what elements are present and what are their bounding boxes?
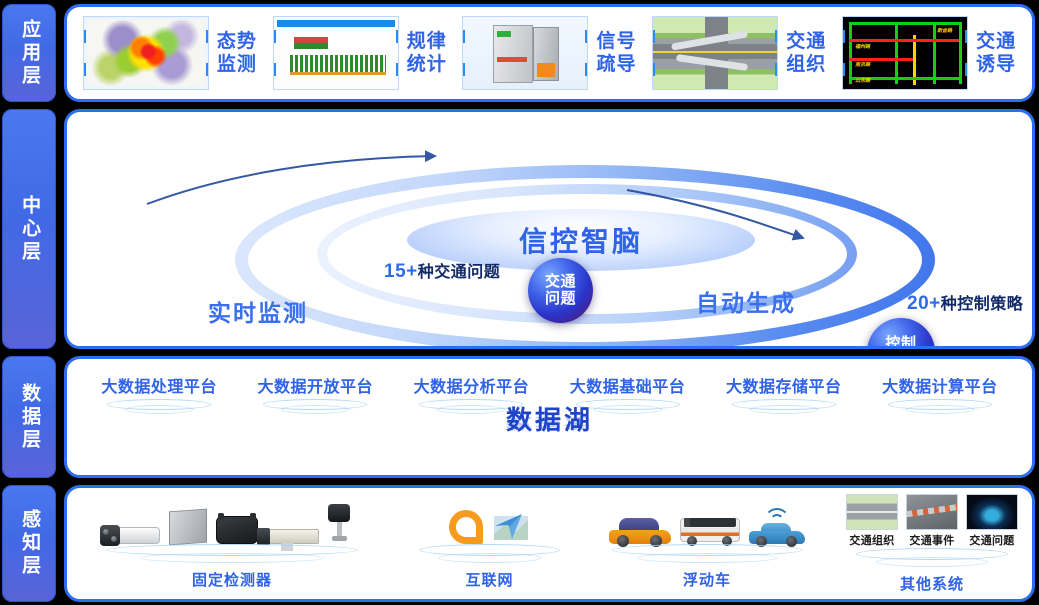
intersection-thumbnail-icon — [652, 16, 778, 90]
application-item-traffic-guidance[interactable]: 福州路 南京路 山东路 新金路 交通 诱导 — [834, 16, 1024, 90]
sensing-group-label: 互联网 — [465, 569, 513, 590]
layer-tab-application-label: 应用层 — [17, 19, 41, 88]
sensing-groups-row: 固定检测器 互联网 — [67, 488, 1032, 599]
pole-camera-icon — [328, 504, 350, 544]
heatmap-thumbnail-icon — [83, 16, 209, 90]
count-text: 种控制策略 — [941, 296, 1024, 313]
ripple-icon — [582, 544, 832, 562]
application-item-label: 交通 组织 — [786, 30, 826, 76]
signal-cabinet-thumbnail-icon — [462, 16, 588, 90]
node-label: 交通 问题 — [545, 274, 576, 306]
data-platform-label: 大数据存储平台 — [726, 373, 842, 397]
layer-tab-sensing-label: 感知层 — [17, 509, 41, 578]
sensing-group-fixed-detector[interactable]: 固定检测器 — [67, 488, 397, 599]
application-items-row: 态势 监测 规律 统计 — [67, 7, 1032, 99]
application-layer-panel: 态势 监测 规律 统计 — [64, 4, 1035, 102]
count-label-traffic-problems: 15+种交通问题 — [384, 258, 500, 283]
count-number: 15+ — [384, 261, 418, 282]
other-system-traffic-problem[interactable]: 交通问题 — [966, 494, 1018, 548]
didi-logo-icon — [449, 510, 483, 544]
sensing-layer-panel: 固定检测器 互联网 — [64, 485, 1035, 602]
layer-tab-application[interactable]: 应用层 — [2, 4, 56, 102]
sensing-group-other-systems[interactable]: 交通组织 交通事件 交通问题 其他系统 — [832, 488, 1032, 599]
data-platform-label: 大数据处理平台 — [101, 373, 217, 397]
data-platform-label: 大数据基础平台 — [570, 373, 686, 397]
other-system-traffic-event[interactable]: 交通事件 — [906, 494, 958, 548]
box-camera-icon — [267, 529, 319, 544]
bus-icon — [680, 514, 740, 544]
floating-car-line — [609, 494, 805, 544]
traffic-event-thumbnail-icon — [906, 494, 958, 530]
other-system-traffic-organization[interactable]: 交通组织 — [846, 494, 898, 548]
data-layer-panel: 大数据处理平台 大数据开放平台 大数据分析平台 大数据基础平台 大数据存储平台 … — [64, 356, 1035, 478]
layer-tab-center[interactable]: 中心层 — [2, 109, 56, 349]
application-item-label: 态势 监测 — [217, 30, 257, 76]
application-item-situation-monitoring[interactable]: 态势 监测 — [75, 16, 265, 90]
layer-tab-sensing[interactable]: 感知层 — [2, 485, 56, 602]
ripple-icon — [67, 544, 397, 562]
application-item-label: 规律 统计 — [407, 30, 447, 76]
data-platform-label: 大数据分析平台 — [414, 373, 530, 397]
flow-label-auto-generation: 自动生成 — [696, 284, 796, 318]
count-label-control-strategies: 20+种控制策略 — [907, 290, 1023, 315]
taxi-icon — [609, 516, 671, 544]
application-item-label: 交通 诱导 — [976, 30, 1016, 76]
architecture-diagram: 应用层 中心层 数据层 感知层 态势 监测 — [0, 0, 1039, 605]
count-text: 种交通问题 — [418, 264, 501, 281]
center-layer-panel: 信控智脑 交通 问题 控制 策略 效果 评价 出行 规律 — [64, 109, 1035, 349]
application-item-label: 信号 疏导 — [596, 30, 636, 76]
other-system-caption: 交通问题 — [966, 532, 1018, 548]
data-lake-block: 数据湖 数据湖 — [67, 400, 1032, 471]
data-lake-reflection: 数据湖 — [67, 414, 1032, 434]
application-item-pattern-statistics[interactable]: 规律 统计 — [265, 16, 455, 90]
other-system-thumbnails: 交通组织 交通事件 交通问题 — [846, 494, 1018, 548]
internet-logo-line — [449, 494, 530, 544]
ripple-icon — [832, 548, 1032, 566]
connected-car-icon — [749, 508, 805, 544]
flow-label-real-time-monitoring: 实时监测 — [208, 294, 308, 328]
layer-tab-data[interactable]: 数据层 — [2, 356, 56, 478]
amap-logo-icon — [492, 510, 530, 544]
data-platform-label: 大数据计算平台 — [882, 373, 998, 397]
sensing-group-label: 其他系统 — [900, 573, 964, 594]
road-network-board-thumbnail-icon: 福州路 南京路 山东路 新金路 — [842, 16, 968, 90]
node-traffic-problem[interactable]: 交通 问题 — [528, 258, 593, 323]
sensing-group-floating-car[interactable]: 浮动车 — [582, 488, 832, 599]
detector-cube-icon — [216, 516, 258, 544]
bullet-camera-icon — [114, 527, 160, 544]
layer-tab-center-label: 中心层 — [17, 195, 41, 264]
node-control-strategy[interactable]: 控制 策略 — [867, 318, 935, 349]
data-platform-label: 大数据开放平台 — [257, 373, 373, 397]
application-item-traffic-organization[interactable]: 交通 组织 — [644, 16, 834, 90]
chart-report-thumbnail-icon — [273, 16, 399, 90]
detector-device-line — [114, 494, 350, 544]
other-system-caption: 交通事件 — [906, 532, 958, 548]
other-system-caption: 交通组织 — [846, 532, 898, 548]
brain-loop-diagram: 信控智脑 交通 问题 控制 策略 效果 评价 出行 规律 — [67, 112, 1032, 346]
application-item-signal-guidance[interactable]: 信号 疏导 — [455, 16, 645, 90]
traffic-organization-thumbnail-icon — [846, 494, 898, 530]
radar-panel-icon — [169, 510, 207, 544]
ripple-icon — [397, 544, 582, 562]
sensing-group-label: 固定检测器 — [192, 569, 272, 590]
traffic-problem-thumbnail-icon — [966, 494, 1018, 530]
node-label: 控制 策略 — [885, 336, 916, 349]
count-number: 20+ — [907, 293, 941, 314]
sensing-group-internet[interactable]: 互联网 — [397, 488, 582, 599]
core-title: 信控智脑 — [407, 220, 755, 260]
layer-tab-data-label: 数据层 — [17, 383, 41, 452]
sensing-group-label: 浮动车 — [683, 569, 731, 590]
